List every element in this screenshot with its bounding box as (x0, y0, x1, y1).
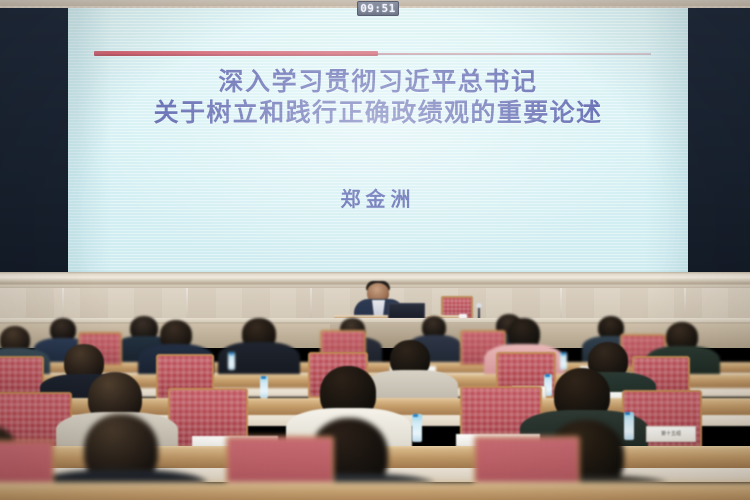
speaker-shirt (372, 300, 385, 316)
slide-rule-thin (378, 53, 651, 55)
desk-edge (0, 482, 750, 500)
clock-time-text: 09:51 (360, 3, 396, 14)
table-namecard: 第十五组 (646, 426, 696, 442)
slide-divider-rule (94, 50, 662, 57)
slide-title-line-1: 深入学习贯彻习近平总书记 (68, 66, 688, 97)
projection-screen[interactable]: 深入学习贯彻习近平总书记 关于树立和践行正确政绩观的重要论述 郑金洲 (68, 8, 688, 272)
screen-scanlines (68, 8, 688, 272)
slide-title-line-2: 关于树立和践行正确政绩观的重要论述 (68, 97, 688, 128)
water-bottle (412, 414, 422, 442)
screen-bezel-right (688, 8, 750, 272)
slide-presenter-name: 郑金洲 (68, 183, 688, 212)
water-bottle (624, 412, 634, 440)
digital-clock: 09:51 (357, 1, 399, 16)
water-bottle (560, 352, 567, 370)
water-bottle (260, 376, 268, 398)
water-bottle (228, 352, 235, 370)
photo-scene: 深入学习贯彻习近平总书记 关于树立和践行正确政绩观的重要论述 郑金洲 09:51 (0, 0, 750, 500)
screen-edge-shading (68, 8, 688, 272)
screen-bezel-left (0, 8, 68, 272)
slide-rule-thick (94, 51, 378, 56)
laptop (388, 303, 425, 319)
screen-glow (68, 8, 688, 272)
namecard-text: 第十五组 (661, 432, 681, 437)
slide-title: 深入学习贯彻习近平总书记 关于树立和践行正确政绩观的重要论述 (68, 66, 688, 128)
